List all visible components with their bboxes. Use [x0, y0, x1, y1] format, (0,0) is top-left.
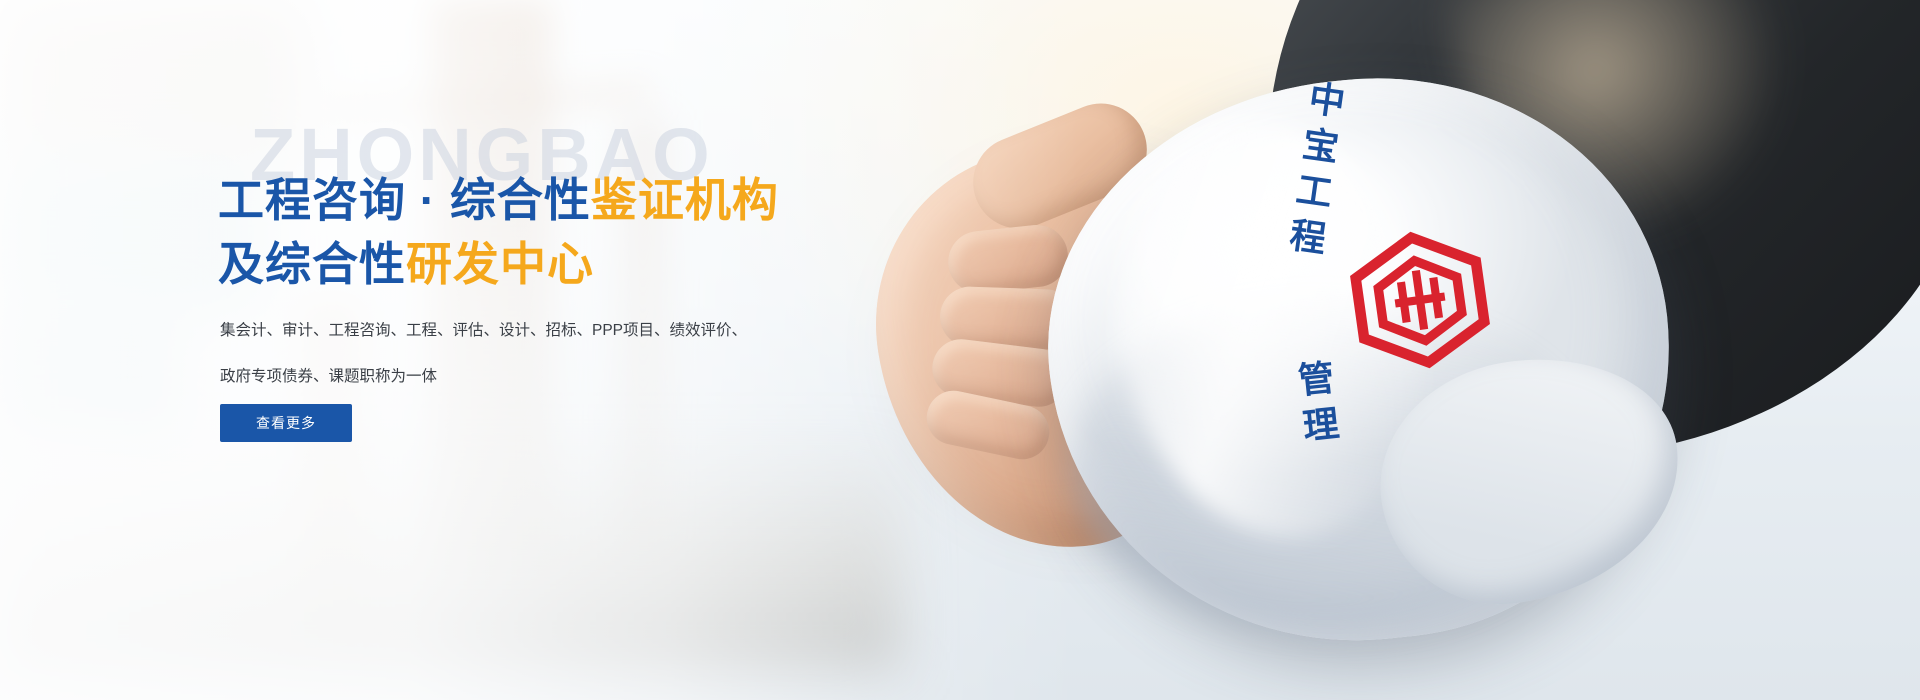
hero-content: ZHONGBAO 工程咨询 · 综合性鉴证机构 及综合性研发中心 集会计、审计、…: [218, 0, 1038, 700]
helmet-company-text-bottom: 管理: [1285, 358, 1346, 455]
headline-line-2-primary: 及综合性: [218, 238, 406, 290]
subtitle-line-2: 政府专项债券、课题职称为一体: [220, 354, 840, 400]
zhongbao-hexagon-logo: [1341, 221, 1499, 379]
view-more-button[interactable]: 查看更多: [220, 404, 352, 442]
hero-banner: 中宝工程 管理 ZHONGBAO 工程咨询 · 综合性鉴证机构 及综合性研发中心…: [0, 0, 1920, 700]
headline-line-2: 及综合性研发中心: [218, 232, 1038, 296]
hero-headline: 工程咨询 · 综合性鉴证机构 及综合性研发中心: [218, 168, 1038, 296]
hero-subtitle: 集会计、审计、工程咨询、工程、评估、设计、招标、PPP项目、绩效评价、 政府专项…: [220, 308, 840, 400]
headline-line-1-primary: 工程咨询 · 综合性: [218, 174, 591, 226]
headline-line-2-accent: 研发中心: [406, 238, 594, 290]
headline-line-1: 工程咨询 · 综合性鉴证机构: [218, 168, 1038, 232]
headline-line-1-accent: 鉴证机构: [591, 174, 779, 226]
subtitle-line-1: 集会计、审计、工程咨询、工程、评估、设计、招标、PPP项目、绩效评价、: [220, 308, 840, 354]
